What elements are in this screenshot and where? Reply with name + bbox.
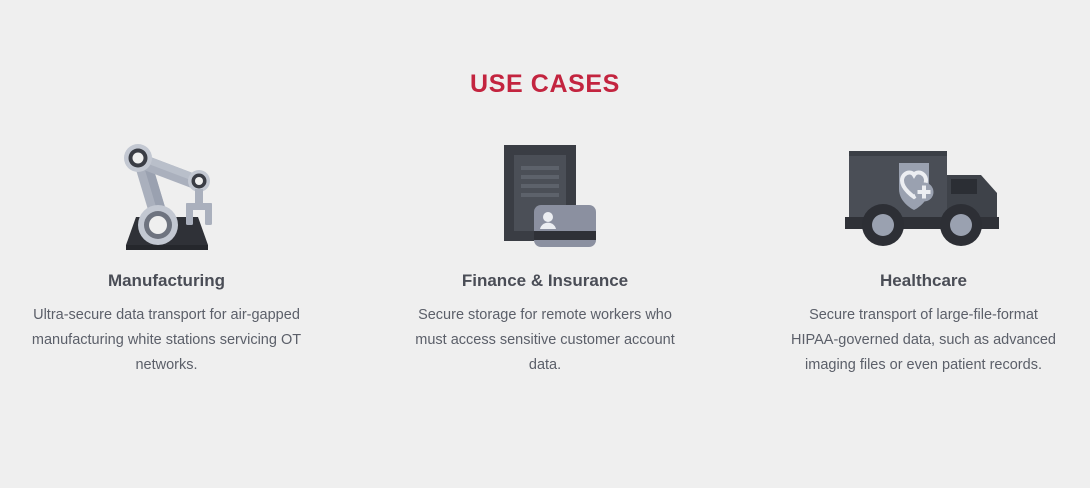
card-description: Secure transport of large-file-format HI… (788, 303, 1060, 378)
card-description: Secure storage for remote workers who mu… (409, 303, 681, 378)
medical-truck-shield-icon (841, 137, 1006, 252)
icon-container (834, 139, 1014, 249)
card-title: Manufacturing (108, 271, 225, 291)
icon-container (77, 139, 257, 249)
use-case-card-manufacturing: Manufacturing Ultra-secure data transpor… (0, 139, 333, 378)
page-title: USE CASES (470, 72, 620, 97)
card-title: Finance & Insurance (462, 271, 628, 291)
icon-container (455, 139, 635, 249)
card-description: Ultra-secure data transport for air-gapp… (31, 303, 303, 378)
robotic-arm-icon (102, 137, 232, 252)
card-title: Healthcare (880, 271, 967, 291)
use-case-card-list: Manufacturing Ultra-secure data transpor… (0, 139, 1090, 378)
use-case-card-healthcare: Healthcare Secure transport of large-fil… (757, 139, 1090, 378)
use-cases-section: USE CASES (0, 0, 1090, 488)
document-id-card-icon (490, 137, 600, 252)
use-case-card-finance-insurance: Finance & Insurance Secure storage for r… (379, 139, 712, 378)
